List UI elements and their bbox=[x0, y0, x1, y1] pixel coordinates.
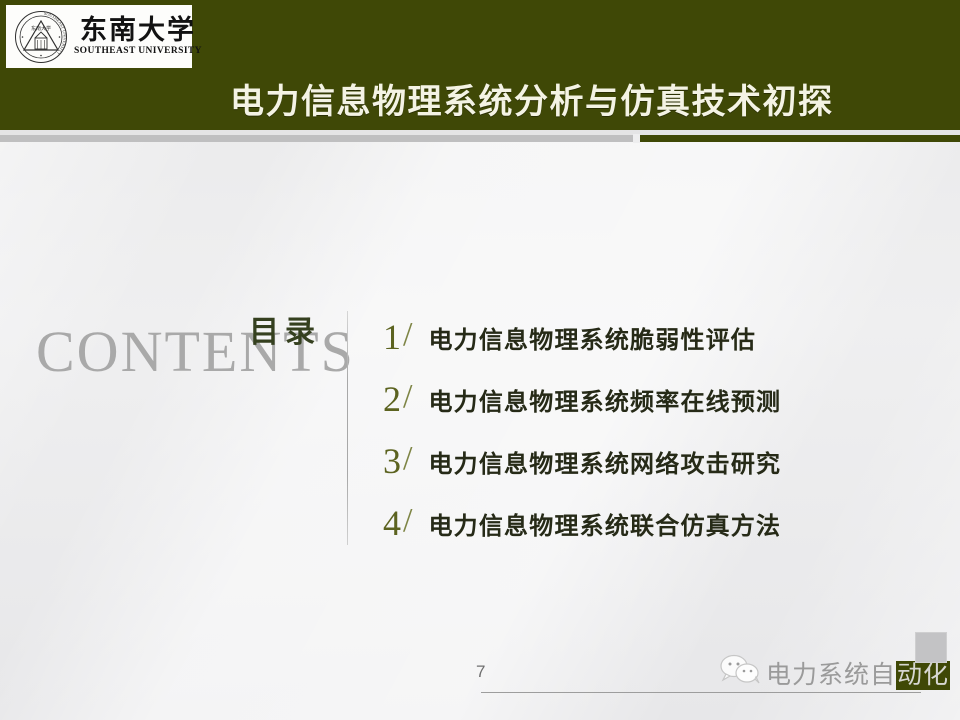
toc-slash-icon: / bbox=[403, 502, 412, 540]
toc-number: 3 bbox=[383, 443, 401, 479]
footer-divider bbox=[481, 692, 921, 693]
toc-item-1[interactable]: 1 / 电力信息物理系统脆弱性评估 bbox=[383, 306, 903, 368]
university-logo: 东南大学 SOUTHEAST UNIVERSITY 东南大学 SOUTHEAST… bbox=[6, 5, 192, 68]
header-rule-green bbox=[636, 135, 960, 142]
table-of-contents: 1 / 电力信息物理系统脆弱性评估 2 / 电力信息物理系统频率在线预测 3 /… bbox=[383, 306, 903, 554]
svg-text:东南大学: 东南大学 bbox=[31, 25, 51, 32]
header-rule-gray bbox=[0, 135, 636, 142]
slide-canvas: 东南大学 SOUTHEAST UNIVERSITY 东南大学 SOUTHEAST… bbox=[0, 0, 960, 720]
brand-highlight: 动化 bbox=[896, 661, 950, 690]
vertical-divider bbox=[347, 311, 348, 545]
toc-number: 4 bbox=[383, 505, 401, 541]
university-seal-icon: 东南大学 SOUTHEAST UNIVERSITY bbox=[14, 10, 68, 64]
toc-item-3[interactable]: 3 / 电力信息物理系统网络攻击研究 bbox=[383, 430, 903, 492]
brand-prefix: 电力系统自 bbox=[766, 662, 896, 689]
toc-item-2[interactable]: 2 / 电力信息物理系统频率在线预测 bbox=[383, 368, 903, 430]
logo-wordmark: 东南大学 SOUTHEAST UNIVERSITY bbox=[74, 17, 202, 57]
toc-slash-icon: / bbox=[403, 316, 412, 354]
slide-title: 电力信息物理系统分析与仿真技术初探 bbox=[230, 74, 834, 123]
toc-label: 电力信息物理系统网络攻击研究 bbox=[428, 444, 781, 479]
logo-name-cn: 东南大学 bbox=[80, 17, 196, 44]
header-rule-notch bbox=[633, 134, 640, 143]
wechat-icon bbox=[718, 654, 762, 684]
toc-item-4[interactable]: 4 / 电力信息物理系统联合仿真方法 bbox=[383, 492, 903, 554]
page-number: 7 bbox=[476, 662, 485, 682]
toc-label: 电力信息物理系统脆弱性评估 bbox=[428, 320, 756, 355]
toc-slash-icon: / bbox=[403, 440, 412, 478]
toc-number: 1 bbox=[383, 319, 401, 355]
toc-label: 电力信息物理系统频率在线预测 bbox=[428, 382, 781, 417]
contents-label-cn: 目录 bbox=[249, 307, 321, 351]
toc-label: 电力信息物理系统联合仿真方法 bbox=[428, 506, 781, 541]
logo-name-en: SOUTHEAST UNIVERSITY bbox=[74, 47, 202, 57]
toc-number: 2 bbox=[383, 381, 401, 417]
toc-slash-icon: / bbox=[403, 378, 412, 416]
watermark-square bbox=[915, 632, 947, 663]
